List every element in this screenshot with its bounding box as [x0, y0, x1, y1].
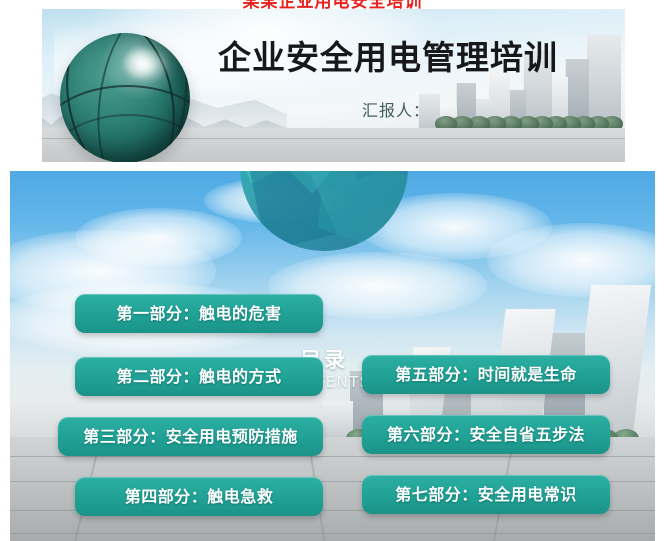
agenda-item-part7[interactable]: 第七部分：安全用电常识	[362, 475, 610, 514]
agenda-item-label: 第三部分：安全用电预防措施	[83, 417, 298, 456]
agenda-item-label: 第七部分：安全用电常识	[395, 475, 577, 514]
cut-off-header-text: 某某企业用电安全培训	[0, 0, 665, 9]
presenter-label: 汇报人：	[362, 97, 430, 121]
cut-off-header-strip: 某某企业用电安全培训	[0, 0, 665, 9]
contents-slide: 目录 CONTENTS 第一部分：触电的危害 第二部分：触电的方式 第三部分：安…	[10, 171, 655, 541]
title-slide-banner: 企业安全用电管理培训 汇报人：	[42, 9, 625, 162]
presentation-title: 企业安全用电管理培训	[218, 31, 618, 79]
agenda-item-part3[interactable]: 第三部分：安全用电预防措施	[58, 417, 323, 456]
agenda-item-part1[interactable]: 第一部分：触电的危害	[75, 294, 323, 333]
agenda-item-label: 第二部分：触电的方式	[116, 357, 281, 396]
agenda-item-part4[interactable]: 第四部分：触电急救	[75, 477, 323, 516]
agenda-item-label: 第一部分：触电的危害	[116, 294, 281, 333]
presentation-stage: 某某企业用电安全培训	[0, 0, 665, 541]
agenda-item-label: 第四部分：触电急救	[125, 477, 274, 516]
agenda-item-label: 第五部分：时间就是生命	[395, 355, 577, 394]
agenda-item-label: 第六部分：安全自省五步法	[387, 415, 585, 454]
green-sphere-icon	[60, 33, 190, 162]
agenda-item-part5[interactable]: 第五部分：时间就是生命	[362, 355, 610, 394]
agenda-item-part2[interactable]: 第二部分：触电的方式	[75, 357, 323, 396]
cloud-decor	[75, 208, 243, 267]
contents-semicircle-badge	[240, 171, 408, 251]
agenda-item-part6[interactable]: 第六部分：安全自省五步法	[362, 415, 610, 454]
